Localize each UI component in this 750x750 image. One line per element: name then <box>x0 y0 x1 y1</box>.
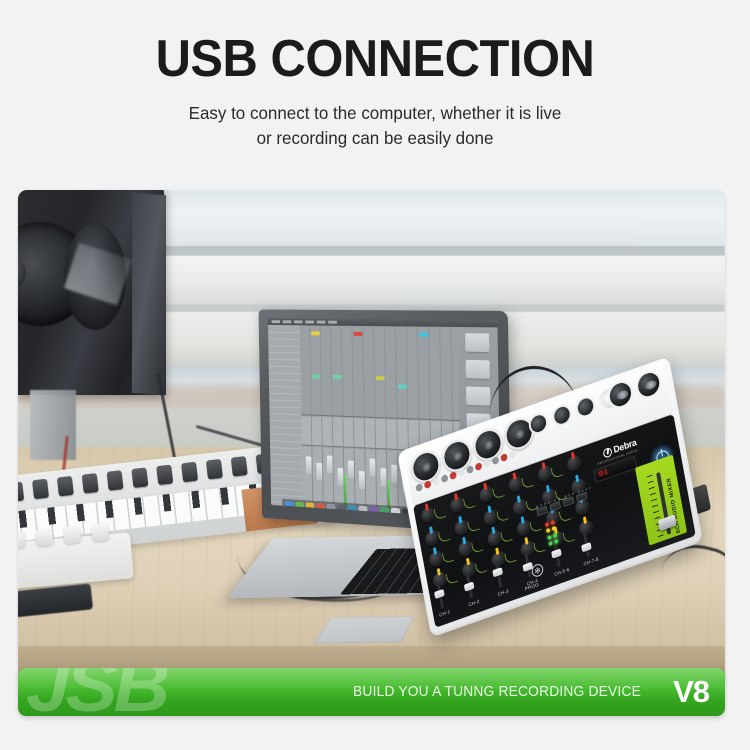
laptop-trackpad <box>313 616 414 644</box>
daw-fader <box>327 455 333 473</box>
menu-item <box>305 321 314 324</box>
synth-knob <box>57 475 74 496</box>
mixer-led-value: 01 <box>598 468 609 479</box>
rear-pad-button[interactable] <box>449 471 457 480</box>
mixer-xlr-out-right[interactable] <box>634 367 663 402</box>
product-banner-page: USB CONNECTION Easy to connect to the co… <box>0 0 750 750</box>
dock-icon[interactable] <box>337 504 346 513</box>
synth-knob <box>106 470 123 491</box>
panel-trace <box>521 475 533 490</box>
daw-fader <box>337 468 343 486</box>
panel-trace <box>463 495 475 510</box>
page-title: USB CONNECTION <box>23 31 728 87</box>
daw-fader <box>391 465 397 483</box>
channel-label-ch3: CH-3 <box>497 588 509 597</box>
footer-banner: JSB BUILD YOU A TUNNG RECORDING DEVICE V… <box>18 668 725 716</box>
led <box>551 520 556 525</box>
dock-icon[interactable] <box>327 504 336 513</box>
panel-trace <box>438 529 450 544</box>
rear-trim-knob[interactable] <box>492 456 500 465</box>
panel-trace <box>471 539 483 554</box>
panel-trace <box>496 508 508 523</box>
gain-knob-ch7-8[interactable] <box>566 453 583 473</box>
pedal-switch <box>35 528 53 546</box>
rear-trim-knob[interactable] <box>415 483 423 492</box>
menu-item <box>317 321 326 324</box>
pedal-switch <box>91 523 109 541</box>
daw-clip-grid <box>300 325 460 421</box>
rear-trim-knob[interactable] <box>466 465 474 474</box>
dock-icon[interactable] <box>358 506 367 516</box>
rear-switch[interactable] <box>483 459 491 468</box>
daw-clip <box>419 333 428 337</box>
rear-pad-button[interactable] <box>500 453 508 462</box>
rear-trim-knob[interactable] <box>441 474 449 483</box>
panel-trace <box>551 464 563 479</box>
studio-monitor-speaker <box>18 190 164 395</box>
rear-switch[interactable] <box>432 477 440 486</box>
rear-pad-button[interactable] <box>475 462 483 471</box>
led <box>547 535 552 540</box>
synth-knob <box>156 464 173 485</box>
mixer-trs-jack-ch7-8-l[interactable] <box>574 394 597 421</box>
banner-watermark: JSB <box>26 668 166 716</box>
led <box>545 522 550 527</box>
daw-clip <box>353 332 362 336</box>
channel-label-ch1: CH-1 <box>439 609 451 618</box>
dock-icon[interactable] <box>348 505 357 514</box>
synth-knob <box>82 473 99 494</box>
daw-clip <box>311 331 320 335</box>
pedal-switch <box>63 526 81 544</box>
dock-icon[interactable] <box>295 502 304 511</box>
channel-fader-cap-ch2[interactable] <box>464 581 475 591</box>
banner-version-badge: V8 <box>673 672 709 712</box>
panel-trace <box>434 506 446 521</box>
synth-knob <box>18 481 24 502</box>
daw-browser-sidebar <box>268 325 303 507</box>
page-subtitle: Easy to connect to the computer, whether… <box>11 101 739 151</box>
rear-switch[interactable] <box>458 468 466 477</box>
dock-icon[interactable] <box>285 501 294 510</box>
mixer-trs-jack-ch5-6-r[interactable] <box>551 402 574 429</box>
dock-icon[interactable] <box>380 507 389 517</box>
daw-clip <box>376 376 385 380</box>
mixer-xlr-out-left[interactable] <box>606 377 635 412</box>
menu-item <box>272 320 280 323</box>
daw-device-slot <box>465 333 489 352</box>
dock-icon[interactable] <box>306 502 315 511</box>
banner-tagline: BUILD YOU A TUNNG RECORDING DEVICE <box>353 683 641 700</box>
rear-pad-button[interactable] <box>424 480 432 489</box>
menu-item <box>328 321 337 324</box>
daw-fader <box>359 471 365 489</box>
synth-knob <box>231 456 248 477</box>
channel-label-ch5-6: CH-5-6 <box>554 567 570 577</box>
daw-fader <box>306 456 312 474</box>
panel-trace <box>500 529 512 544</box>
synth-knob <box>181 461 198 482</box>
rear-switch[interactable] <box>509 450 517 459</box>
channel-label-ch2: CH-2 <box>468 599 480 608</box>
channel-fader-cap-ch7-8[interactable] <box>581 542 592 552</box>
header: USB CONNECTION Easy to connect to the co… <box>0 0 750 185</box>
panel-trace <box>530 519 542 534</box>
channel-fader-cap-ch5-6[interactable] <box>551 548 562 558</box>
panel-trace <box>442 550 454 565</box>
channel-fader-cap-ch3[interactable] <box>492 567 503 577</box>
speaker-stand <box>30 390 76 460</box>
menu-item <box>294 320 303 323</box>
dock-icon[interactable] <box>391 508 400 518</box>
panel-trace <box>559 508 571 523</box>
panel-trace <box>492 485 504 500</box>
synth-knob <box>131 467 148 488</box>
led <box>546 528 551 533</box>
channel-label-ch7-8: CH-7-8 <box>583 556 599 566</box>
daw-fader <box>348 460 354 478</box>
speaker-woofer-cone <box>18 256 26 290</box>
dock-icon[interactable] <box>369 506 378 516</box>
daw-device-slot <box>466 360 490 379</box>
led <box>552 526 557 531</box>
menu-item <box>283 320 291 323</box>
dock-icon[interactable] <box>316 503 325 512</box>
daw-clip <box>398 385 407 389</box>
subtitle-line-1: Easy to connect to the computer, whether… <box>11 101 739 126</box>
daw-fader <box>316 463 322 481</box>
synth-knob <box>32 478 49 499</box>
daw-clip <box>333 375 342 379</box>
panel-trace <box>467 518 479 533</box>
product-photo: CH-1 CH-2 CH-3 CH-4 CH-5-6 CH-7-8 Debra … <box>18 190 725 682</box>
channel-fader-cap-ch1[interactable] <box>434 589 445 599</box>
led <box>553 532 558 537</box>
speaker-side-panel <box>132 193 166 395</box>
synth-knob <box>206 458 223 479</box>
daw-fader <box>369 459 375 477</box>
daw-level-meter <box>388 480 390 508</box>
daw-fader <box>380 468 386 486</box>
subtitle-line-2: or recording can be easily done <box>11 126 739 151</box>
daw-clip <box>312 374 321 378</box>
daw-device-slot <box>466 387 490 406</box>
